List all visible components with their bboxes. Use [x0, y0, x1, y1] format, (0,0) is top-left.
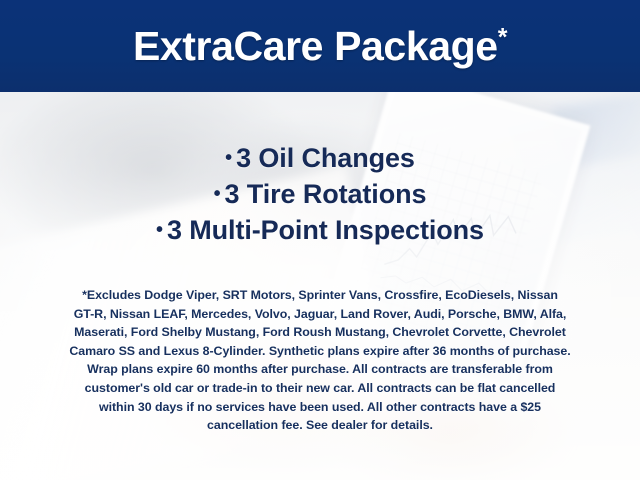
title-asterisk: * — [498, 23, 507, 51]
list-item-label: 3 Oil Changes — [236, 143, 415, 173]
list-item: •3 Oil Changes — [0, 140, 640, 176]
list-item: •3 Multi-Point Inspections — [0, 212, 640, 248]
disclaimer-text: *Excludes Dodge Viper, SRT Motors, Sprin… — [22, 286, 618, 435]
disclaimer-line: Camaro SS and Lexus 8-Cylinder. Syntheti… — [22, 342, 618, 361]
disclaimer-line: GT-R, Nissan LEAF, Mercedes, Volvo, Jagu… — [22, 305, 618, 324]
header-banner: ExtraCare Package* — [0, 0, 640, 92]
bullet-dot-icon: • — [214, 183, 221, 205]
disclaimer-line: Wrap plans expire 60 months after purcha… — [22, 360, 618, 379]
page-title-text: ExtraCare Package — [133, 23, 498, 69]
disclaimer-line: *Excludes Dodge Viper, SRT Motors, Sprin… — [22, 286, 618, 305]
bullet-dot-icon: • — [225, 147, 232, 169]
benefits-list: •3 Oil Changes •3 Tire Rotations •3 Mult… — [0, 140, 640, 248]
list-item: •3 Tire Rotations — [0, 176, 640, 212]
list-item-label: 3 Multi-Point Inspections — [167, 215, 484, 245]
disclaimer-line: within 30 days if no services have been … — [22, 398, 618, 417]
disclaimer-line: customer's old car or trade-in to their … — [22, 379, 618, 398]
disclaimer-line: cancellation fee. See dealer for details… — [22, 416, 618, 435]
bullet-dot-icon: • — [156, 219, 163, 241]
list-item-label: 3 Tire Rotations — [224, 179, 426, 209]
extracare-package-ad: ExtraCare Package* •3 Oil Changes •3 Tir… — [0, 0, 640, 480]
disclaimer-line: Maserati, Ford Shelby Mustang, Ford Rous… — [22, 323, 618, 342]
page-title: ExtraCare Package* — [133, 26, 507, 67]
